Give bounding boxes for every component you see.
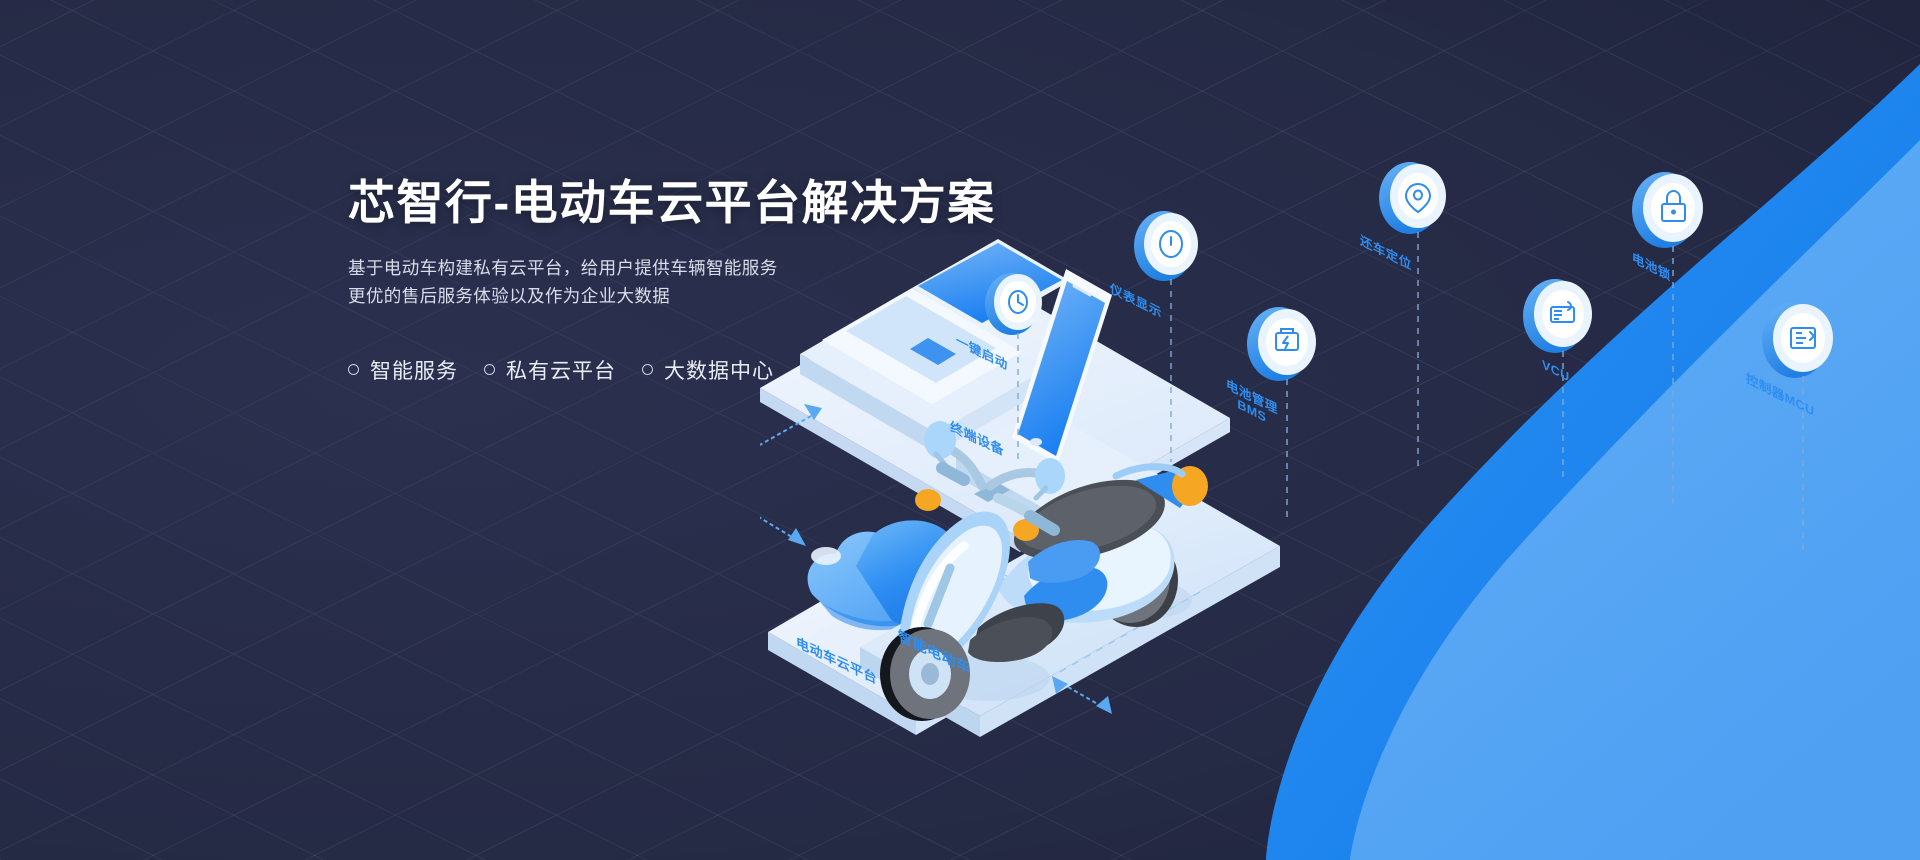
circle-outline-icon <box>642 364 653 375</box>
bullet-label: 私有云平台 <box>506 355 616 385</box>
feature-badge-return-location[interactable] <box>1379 162 1446 470</box>
circle-outline-icon <box>484 364 495 375</box>
circle-outline-icon <box>348 364 359 375</box>
bullet-item-big-data-center[interactable]: 大数据中心 <box>642 355 774 385</box>
bullet-item-intelligent-service[interactable]: 智能服务 <box>348 355 458 385</box>
bullet-label: 智能服务 <box>370 355 458 385</box>
hero-banner: 芯智行-电动车云平台解决方案 基于电动车构建私有云平台，给用户提供车辆智能服务 … <box>0 0 1920 860</box>
bullet-item-private-cloud[interactable]: 私有云平台 <box>484 355 616 385</box>
illustration-svg: . <box>760 150 1920 860</box>
feature-badge-battery-lock[interactable] <box>1632 172 1703 504</box>
svg-text:.: . <box>760 150 764 153</box>
isometric-illustration: . <box>760 150 1920 860</box>
feature-badge-controller-mcu[interactable] <box>1762 302 1833 550</box>
bullet-label: 大数据中心 <box>664 355 774 385</box>
connector-terminal-cloud <box>760 412 818 542</box>
